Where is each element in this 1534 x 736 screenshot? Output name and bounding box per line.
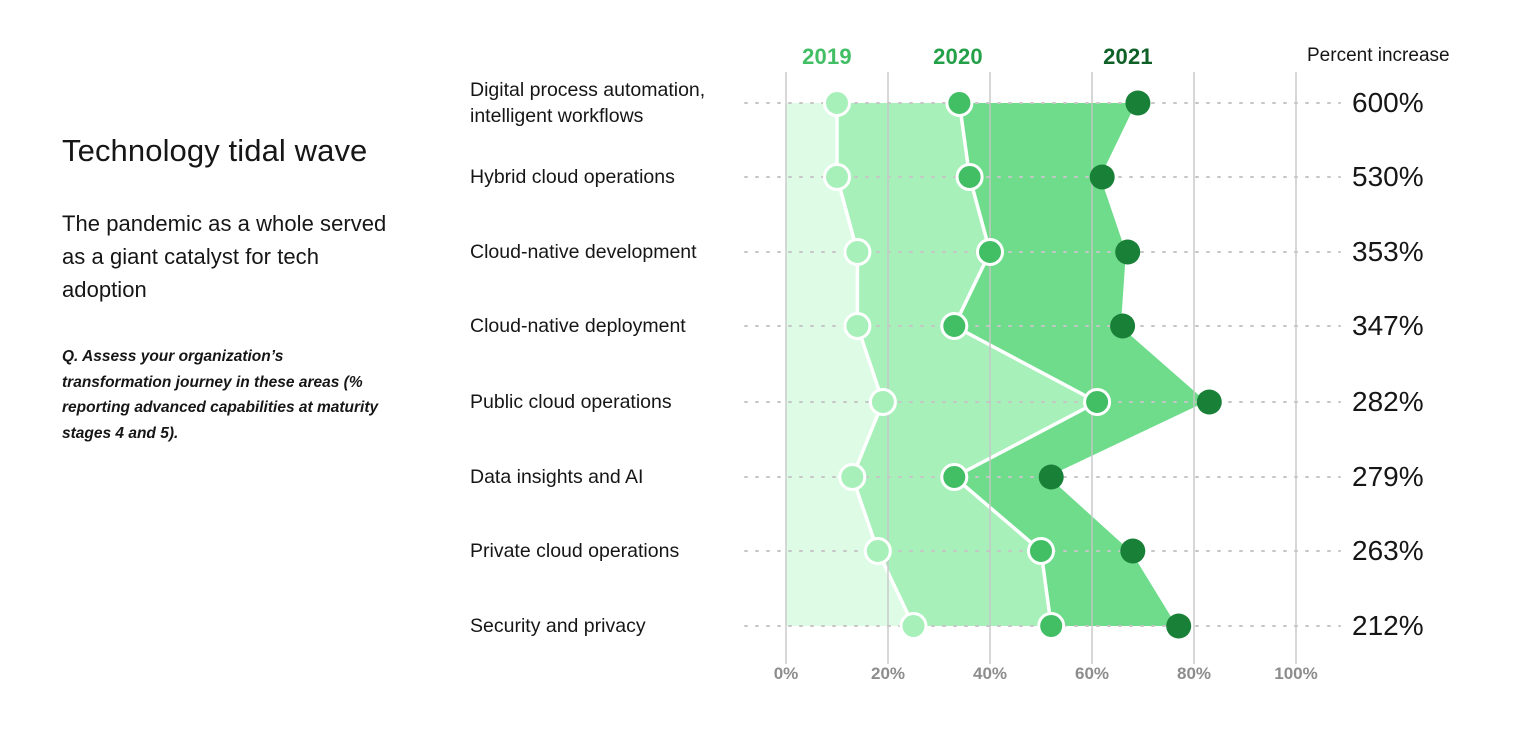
data-point-2020[interactable] (1029, 539, 1054, 564)
percent-increase-header: Percent increase (1307, 45, 1450, 67)
data-point-2019[interactable] (840, 465, 865, 490)
data-point-2019[interactable] (870, 390, 895, 415)
chart-container: 201920202021Percent increaseDigital proc… (0, 0, 1534, 736)
row-label-2: Cloud-native development (470, 239, 760, 265)
percent-value-7: 212% (1352, 610, 1424, 642)
row-label-7: Security and privacy (470, 613, 760, 639)
x-axis-tick-label-2: 40% (973, 664, 1007, 684)
data-point-2021[interactable] (1110, 314, 1135, 339)
legend-label-2021[interactable]: 2021 (1103, 44, 1153, 70)
data-point-2019[interactable] (845, 314, 870, 339)
percent-value-1: 530% (1352, 161, 1424, 193)
x-axis-tick-label-1: 20% (871, 664, 905, 684)
row-label-5: Data insights and AI (470, 464, 760, 490)
row-label-6: Private cloud operations (470, 538, 760, 564)
data-point-2019[interactable] (845, 240, 870, 265)
data-point-2019[interactable] (901, 614, 926, 639)
data-point-2019[interactable] (825, 91, 850, 116)
data-point-2019[interactable] (865, 539, 890, 564)
percent-value-4: 282% (1352, 386, 1424, 418)
percent-value-2: 353% (1352, 236, 1424, 268)
data-point-2021[interactable] (1115, 240, 1140, 265)
x-axis-tick-label-5: 100% (1274, 664, 1317, 684)
data-point-2020[interactable] (1039, 614, 1064, 639)
x-axis-tick-label-0: 0% (774, 664, 799, 684)
legend-label-2019[interactable]: 2019 (802, 44, 852, 70)
slide-root: Technology tidal wave The pandemic as a … (0, 0, 1534, 736)
chart-svg (0, 0, 1534, 736)
data-point-2020[interactable] (942, 314, 967, 339)
data-point-2021[interactable] (1125, 91, 1150, 116)
percent-value-3: 347% (1352, 310, 1424, 342)
data-point-2021[interactable] (1120, 539, 1145, 564)
percent-value-0: 600% (1352, 87, 1424, 119)
row-label-3: Cloud-native deployment (470, 313, 760, 339)
data-point-2020[interactable] (957, 165, 982, 190)
data-point-2020[interactable] (978, 240, 1003, 265)
row-label-0: Digital process automation, intelligent … (470, 77, 760, 129)
row-label-4: Public cloud operations (470, 389, 760, 415)
data-point-2021[interactable] (1090, 165, 1115, 190)
data-point-2021[interactable] (1039, 465, 1064, 490)
data-point-2021[interactable] (1197, 390, 1222, 415)
row-label-1: Hybrid cloud operations (470, 164, 760, 190)
data-point-2020[interactable] (1085, 390, 1110, 415)
data-point-2021[interactable] (1166, 614, 1191, 639)
x-axis-tick-label-4: 80% (1177, 664, 1211, 684)
data-point-2020[interactable] (942, 465, 967, 490)
legend-label-2020[interactable]: 2020 (933, 44, 983, 70)
percent-value-6: 263% (1352, 535, 1424, 567)
data-point-2020[interactable] (947, 91, 972, 116)
data-point-2019[interactable] (825, 165, 850, 190)
percent-value-5: 279% (1352, 461, 1424, 493)
x-axis-tick-label-3: 60% (1075, 664, 1109, 684)
